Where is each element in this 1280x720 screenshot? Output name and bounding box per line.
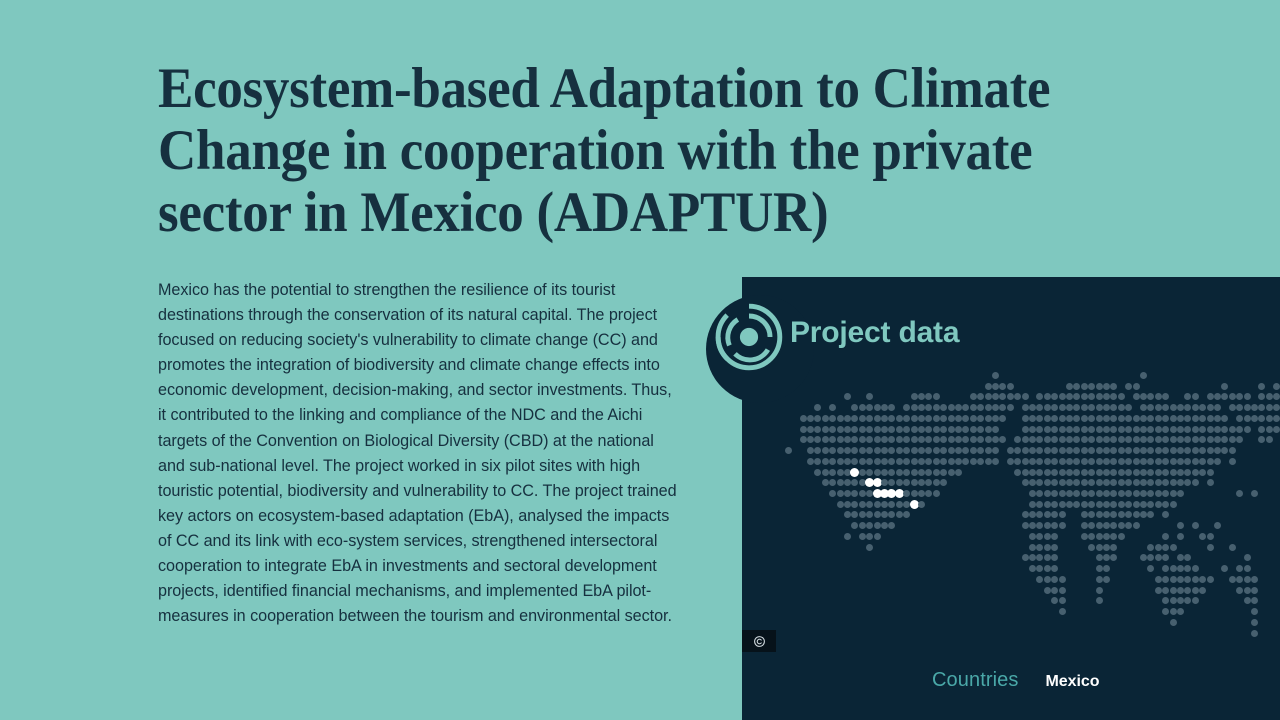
map-dot: [1214, 393, 1221, 400]
map-dot: [874, 522, 881, 529]
map-dot: [1103, 415, 1110, 422]
map-dot: [881, 415, 888, 422]
map-dot: [1110, 544, 1117, 551]
map-dot: [1125, 404, 1132, 411]
map-dot: [1155, 501, 1162, 508]
map-dot: [896, 415, 903, 422]
map-dot: [1162, 544, 1169, 551]
map-dot: [962, 404, 969, 411]
map-dot: [1088, 511, 1095, 518]
map-dot: [1022, 415, 1029, 422]
map-dot: [1110, 393, 1117, 400]
map-dot: [1125, 436, 1132, 443]
map-dot: [851, 415, 858, 422]
map-dot: [1133, 447, 1140, 454]
map-dot: [1266, 436, 1273, 443]
map-dot: [1147, 565, 1154, 572]
map-dot: [896, 426, 903, 433]
map-dot: [1192, 415, 1199, 422]
map-dot: [1184, 447, 1191, 454]
map-dot: [903, 469, 910, 476]
map-dot: [1110, 533, 1117, 540]
map-dot: [933, 404, 940, 411]
map-dot: [1258, 426, 1265, 433]
map-dot: [874, 415, 881, 422]
map-dot: [859, 522, 866, 529]
map-dot: [1162, 436, 1169, 443]
map-dot: [925, 404, 932, 411]
map-dot: [829, 415, 836, 422]
map-dot: [1147, 447, 1154, 454]
map-dot: [1103, 511, 1110, 518]
map-dot: [1110, 554, 1117, 561]
map-dot: [829, 404, 836, 411]
map-dot: [903, 479, 910, 486]
map-dot: [1044, 447, 1051, 454]
map-dot: [962, 415, 969, 422]
map-dot: [844, 501, 851, 508]
map-dot: [1073, 404, 1080, 411]
page-title: Ecosystem-based Adaptation to Climate Ch…: [158, 58, 1069, 244]
map-dot: [911, 447, 918, 454]
map-dot: [866, 522, 873, 529]
map-dot: [918, 501, 925, 508]
map-dot: [1059, 511, 1066, 518]
map-dot: [807, 426, 814, 433]
map-dot: [933, 426, 940, 433]
map-dot: [829, 436, 836, 443]
map-dot: [1103, 426, 1110, 433]
map-dot: [1051, 479, 1058, 486]
map-dot: [1096, 404, 1103, 411]
map-dot: [1125, 469, 1132, 476]
map-dot: [1184, 576, 1191, 583]
map-dot: [1147, 436, 1154, 443]
map-dot: [859, 436, 866, 443]
map-dot: [844, 436, 851, 443]
map-dot: [1258, 436, 1265, 443]
map-dot: [888, 426, 895, 433]
map-dot: [837, 426, 844, 433]
map-dot: [1088, 490, 1095, 497]
map-dot: [1229, 393, 1236, 400]
map-dot: [1059, 608, 1066, 615]
map-dot: [1088, 415, 1095, 422]
map-dot: [844, 393, 851, 400]
map-dot: [888, 415, 895, 422]
map-dot: [1044, 436, 1051, 443]
map-dot: [1073, 436, 1080, 443]
map-dot: [1073, 447, 1080, 454]
map-dot: [1147, 458, 1154, 465]
map-dot: [1103, 447, 1110, 454]
map-dot: [859, 426, 866, 433]
map-dot: [1066, 383, 1073, 390]
map-dot: [866, 393, 873, 400]
map-dot: [1022, 458, 1029, 465]
map-dot: [1014, 458, 1021, 465]
map-dot: [1044, 404, 1051, 411]
map-dot: [1199, 404, 1206, 411]
map-dot: [837, 501, 844, 508]
map-dot: [962, 447, 969, 454]
map-dot: [844, 533, 851, 540]
map-dot: [1096, 501, 1103, 508]
countries-label: Countries: [932, 669, 1019, 692]
map-dot: [1125, 415, 1132, 422]
map-dot: [1096, 479, 1103, 486]
map-dot: [829, 469, 836, 476]
map-dot: [1192, 469, 1199, 476]
map-dot: [1221, 426, 1228, 433]
map-dot: [940, 447, 947, 454]
map-dot: [1133, 501, 1140, 508]
map-dot: [1029, 458, 1036, 465]
map-dot: [1162, 554, 1169, 561]
map-dot: [844, 511, 851, 518]
map-dot: [1244, 415, 1251, 422]
map-dot: [977, 436, 984, 443]
map-dot: [896, 511, 903, 518]
map-dot: [859, 447, 866, 454]
map-dot: [1029, 522, 1036, 529]
map-dot: [1162, 565, 1169, 572]
map-dot: [1096, 490, 1103, 497]
map-dot: [1066, 458, 1073, 465]
map-dot: [1236, 565, 1243, 572]
map-dot: [1184, 479, 1191, 486]
map-dot: [837, 490, 844, 497]
map-dot: [903, 415, 910, 422]
map-dot: [800, 436, 807, 443]
map-dot: [837, 447, 844, 454]
map-dot: [1103, 533, 1110, 540]
map-dot: [1051, 469, 1058, 476]
map-dot: [955, 426, 962, 433]
map-dot: [911, 479, 918, 486]
map-dot: [1110, 415, 1117, 422]
map-dot: [1088, 383, 1095, 390]
map-dot: [1140, 393, 1147, 400]
map-dot: [1177, 522, 1184, 529]
map-dot: [837, 436, 844, 443]
map-dot: [859, 533, 866, 540]
map-dot: [1140, 554, 1147, 561]
map-dot: [1044, 426, 1051, 433]
map-dot: [1207, 469, 1214, 476]
map-dot: [1207, 576, 1214, 583]
map-dot: [1207, 426, 1214, 433]
map-dot: [1059, 426, 1066, 433]
map-dot: [1103, 436, 1110, 443]
map-dot: [1073, 393, 1080, 400]
map-dot: [1192, 479, 1199, 486]
map-dot: [1096, 565, 1103, 572]
map-dot: [1199, 415, 1206, 422]
map-dot: [1036, 458, 1043, 465]
map-dot: [948, 447, 955, 454]
map-dot: [1177, 479, 1184, 486]
map-dot: [1162, 533, 1169, 540]
map-dot: [1125, 383, 1132, 390]
map-dot: [1066, 415, 1073, 422]
map-dot: [925, 436, 932, 443]
map-dot: [1170, 565, 1177, 572]
map-dot: [1251, 490, 1258, 497]
map-dot: [1133, 479, 1140, 486]
map-dot: [1044, 554, 1051, 561]
map-dot: [866, 533, 873, 540]
map-dot: [1059, 436, 1066, 443]
map-dot: [1044, 393, 1051, 400]
map-dot: [1125, 522, 1132, 529]
map-dot: [1096, 447, 1103, 454]
map-dot: [888, 447, 895, 454]
map-dot: [1036, 533, 1043, 540]
map-dot: [1022, 522, 1029, 529]
map-dot: [1066, 447, 1073, 454]
map-dot: [1081, 490, 1088, 497]
map-dot: [837, 415, 844, 422]
map-dot: [1096, 597, 1103, 604]
map-dot: [1236, 436, 1243, 443]
map-dot: [1014, 447, 1021, 454]
map-dot: [970, 458, 977, 465]
map-dot: [866, 544, 873, 551]
map-dot: [1007, 447, 1014, 454]
map-dot: [1096, 458, 1103, 465]
map-dot: [918, 404, 925, 411]
map-dot: [1273, 383, 1280, 390]
map-dot: [1088, 469, 1095, 476]
map-dot: [1170, 501, 1177, 508]
map-dot: [851, 490, 858, 497]
map-dot: [1059, 415, 1066, 422]
map-dot: [1214, 522, 1221, 529]
map-dot: [1199, 426, 1206, 433]
map-dot: [1081, 426, 1088, 433]
map-dot: [874, 501, 881, 508]
map-dot: [1096, 415, 1103, 422]
map-dot: [881, 469, 888, 476]
map-dot: [1177, 490, 1184, 497]
map-dot: [874, 404, 881, 411]
map-dot: [1096, 522, 1103, 529]
map-dot: [1147, 415, 1154, 422]
map-dot: [1088, 533, 1095, 540]
map-dot: [955, 447, 962, 454]
map-dot: [822, 469, 829, 476]
map-dot: [1029, 404, 1036, 411]
map-dot: [1177, 554, 1184, 561]
map-dot: [1192, 393, 1199, 400]
map-dot: [948, 404, 955, 411]
map-dot: [1081, 415, 1088, 422]
map-dot: [1118, 479, 1125, 486]
map-dot: [881, 479, 888, 486]
map-dot: [1155, 415, 1162, 422]
map-attribution-badge[interactable]: [742, 630, 776, 652]
map-dot: [1022, 554, 1029, 561]
map-dot: [888, 501, 895, 508]
map-dot: [1110, 501, 1117, 508]
map-dot: [1199, 587, 1206, 594]
map-dot: [1103, 383, 1110, 390]
map-dot: [1177, 415, 1184, 422]
map-dot: [1229, 544, 1236, 551]
map-dot: [1140, 501, 1147, 508]
map-dot: [1147, 479, 1154, 486]
map-dot: [1133, 436, 1140, 443]
map-dot: [985, 458, 992, 465]
map-dot: [1022, 393, 1029, 400]
map-dot: [1110, 469, 1117, 476]
map-dot: [918, 479, 925, 486]
map-dot: [933, 415, 940, 422]
map-dot: [1073, 426, 1080, 433]
map-dot: [1170, 469, 1177, 476]
map-dot: [851, 501, 858, 508]
map-dot: [829, 479, 836, 486]
map-dot: [985, 404, 992, 411]
map-dot: [1221, 383, 1228, 390]
map-dot: [1221, 393, 1228, 400]
map-dot: [1170, 490, 1177, 497]
map-dot: [1103, 458, 1110, 465]
map-dot: [1096, 511, 1103, 518]
map-dot: [1140, 511, 1147, 518]
map-dot: [1199, 447, 1206, 454]
map-dot: [1081, 501, 1088, 508]
map-dot: [918, 436, 925, 443]
map-dot: [881, 458, 888, 465]
map-dot: [933, 490, 940, 497]
map-dot: [881, 436, 888, 443]
map-dot: [881, 522, 888, 529]
map-dot: [1155, 490, 1162, 497]
map-dot: [1229, 576, 1236, 583]
map-dot: [985, 447, 992, 454]
map-dot: [1147, 511, 1154, 518]
map-dot: [948, 469, 955, 476]
map-dot: [1081, 404, 1088, 411]
map-dot: [1162, 501, 1169, 508]
map-dot: [1044, 469, 1051, 476]
map-dot: [1170, 597, 1177, 604]
map-dot: [911, 415, 918, 422]
map-dot: [940, 469, 947, 476]
map-dot: [1044, 533, 1051, 540]
map-dot: [940, 479, 947, 486]
map-dot: [1170, 404, 1177, 411]
map-dot: [859, 404, 866, 411]
map-dot: [1229, 404, 1236, 411]
map-dot: [903, 426, 910, 433]
copyright-icon: [753, 635, 766, 648]
countries-row: Countries Mexico: [932, 669, 1099, 692]
map-dot: [992, 458, 999, 465]
map-dot: [874, 447, 881, 454]
map-dot: [837, 469, 844, 476]
map-dot: [874, 469, 881, 476]
map-dot: [1088, 458, 1095, 465]
map-dot: [977, 458, 984, 465]
world-map: [742, 372, 1280, 662]
map-dot: [1029, 490, 1036, 497]
map-dot: [1155, 479, 1162, 486]
map-dot: [1044, 490, 1051, 497]
map-dot: [925, 393, 932, 400]
map-dot: [1081, 522, 1088, 529]
map-dot: [866, 458, 873, 465]
map-dot: [918, 415, 925, 422]
map-dot: [1258, 415, 1265, 422]
map-dot: [925, 479, 932, 486]
map-dot: [822, 458, 829, 465]
map-dot: [1036, 576, 1043, 583]
map-dot: [1162, 597, 1169, 604]
map-dot: [1118, 415, 1125, 422]
map-dot: [962, 426, 969, 433]
map-dot: [881, 511, 888, 518]
map-dot: [955, 404, 962, 411]
map-dot: [1110, 511, 1117, 518]
map-dot: [844, 447, 851, 454]
map-dot: [1133, 383, 1140, 390]
map-dot: [903, 404, 910, 411]
map-dot: [1192, 436, 1199, 443]
map-dot: [851, 511, 858, 518]
map-dot: [1229, 447, 1236, 454]
map-dot: [1133, 522, 1140, 529]
map-dot: [1110, 479, 1117, 486]
map-dot: [1162, 415, 1169, 422]
map-dot: [1162, 426, 1169, 433]
map-dot: [925, 458, 932, 465]
map-dot: [1214, 415, 1221, 422]
map-dot: [1125, 511, 1132, 518]
map-dot: [1140, 436, 1147, 443]
map-dot: [1170, 587, 1177, 594]
map-dot: [1081, 458, 1088, 465]
map-dot: [1088, 522, 1095, 529]
map-dot: [1051, 404, 1058, 411]
map-dot: [970, 415, 977, 422]
map-dot: [977, 404, 984, 411]
map-dot: [1266, 404, 1273, 411]
map-dot: [829, 458, 836, 465]
map-dot: [1110, 490, 1117, 497]
map-dot: [1207, 415, 1214, 422]
map-dot: [1103, 479, 1110, 486]
map-dot: [1029, 544, 1036, 551]
map-dot: [925, 469, 932, 476]
map-dot: [1199, 436, 1206, 443]
map-dot: [985, 383, 992, 390]
map-dot: [925, 426, 932, 433]
map-dot: [1170, 415, 1177, 422]
map-dot: [1118, 490, 1125, 497]
map-dot: [1073, 415, 1080, 422]
map-dot: [1110, 383, 1117, 390]
map-dot: [1007, 393, 1014, 400]
map-dot: [829, 447, 836, 454]
map-dot: [1221, 436, 1228, 443]
map-dot: [1051, 447, 1058, 454]
map-dot: [1110, 404, 1117, 411]
map-dot: [866, 501, 873, 508]
map-dot: [1081, 393, 1088, 400]
